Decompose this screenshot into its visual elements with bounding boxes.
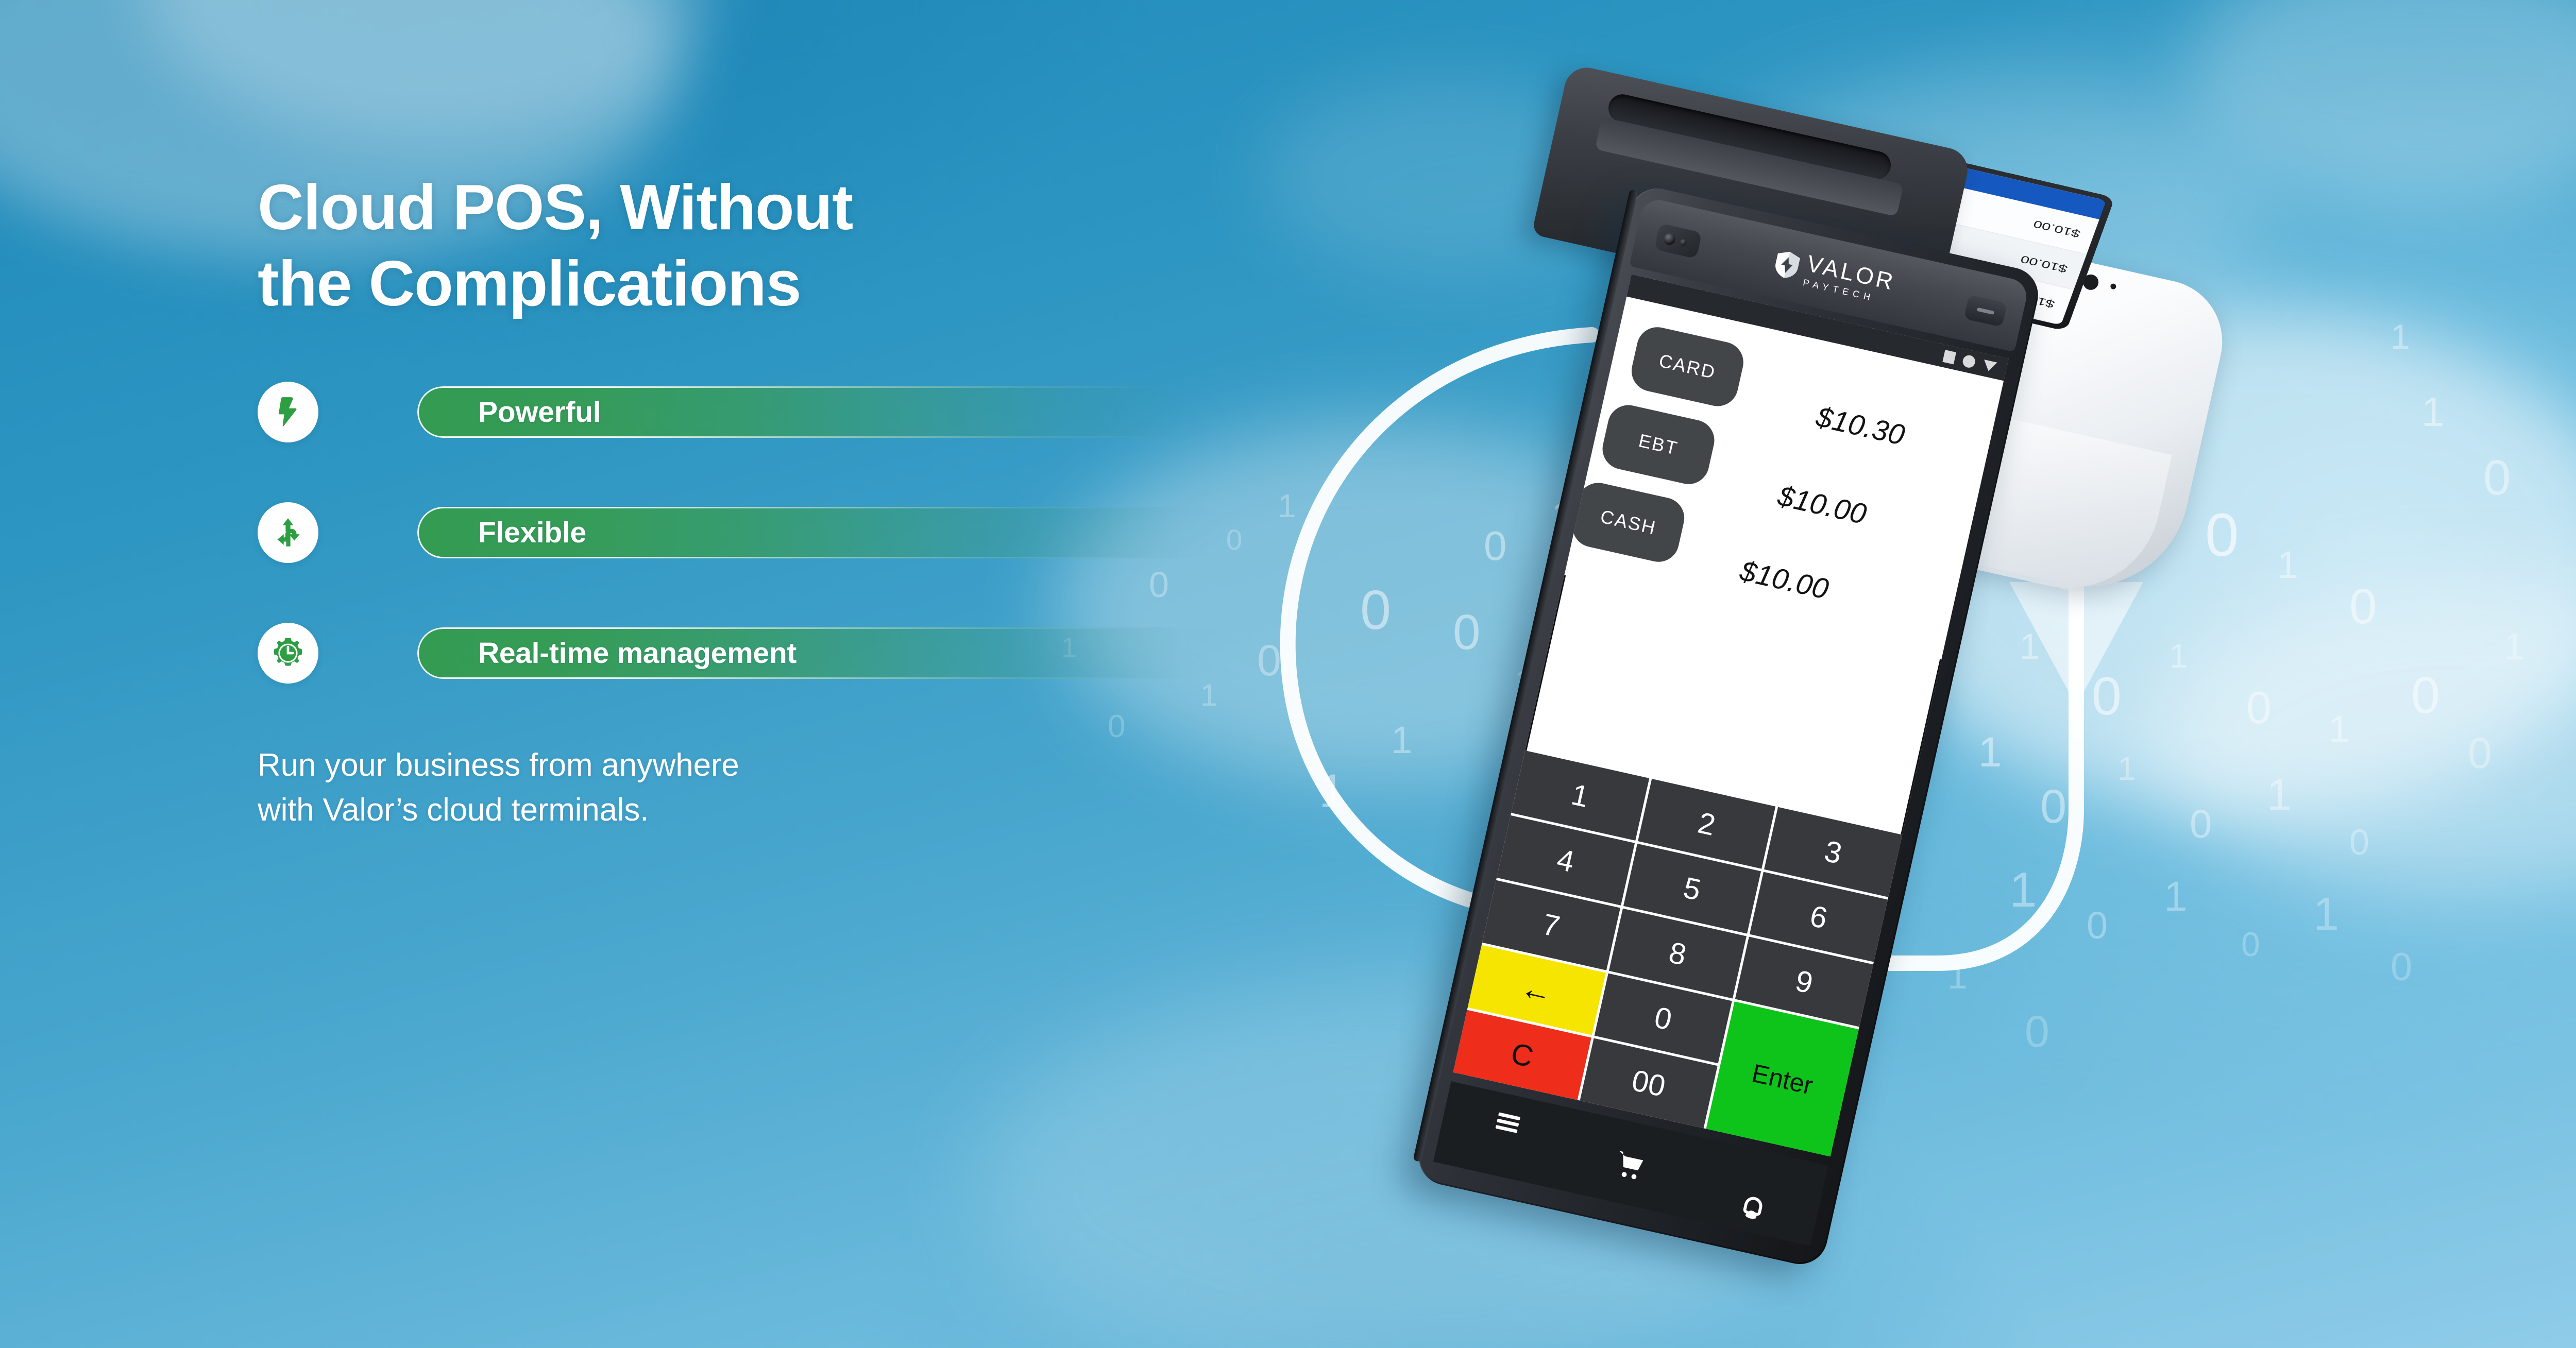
camera-module [1654, 223, 1702, 259]
feature-pill-powerful[interactable]: Powerful [417, 386, 1231, 438]
page-title: Cloud POS, Without the Complications [258, 170, 1236, 322]
customer-amount: $10.00 [2032, 217, 2082, 239]
nav-cart-button[interactable] [1611, 1147, 1649, 1185]
feature-label: Real-time management [417, 636, 796, 670]
subtext-line-2: with Valor’s cloud terminals. [258, 788, 1236, 833]
sensor-icon [1680, 238, 1688, 246]
feature-list: Powerful Flexible [258, 382, 1236, 713]
headline-line-2: the Complications [258, 246, 1236, 322]
feature-item-powerful: Powerful [258, 382, 1236, 472]
feature-item-flexible: Flexible [258, 502, 1236, 592]
hero-banner: 0110101010101010101010101010101010101010… [0, 0, 2576, 1348]
headline-line-1: Cloud POS, Without [258, 170, 1236, 246]
camera-lens-icon [1663, 232, 1676, 246]
lightning-bolt-icon [271, 395, 305, 429]
gear-clock-icon [271, 636, 305, 670]
valor-logo: VALOR PAYTECH [1771, 245, 1897, 306]
feature-pill-realtime[interactable]: Real-time management [417, 627, 1231, 679]
terminal-screen: CARD $10.30 EBT $10.00 CASH $10.00 1 2 [1453, 275, 2009, 1156]
signal-icon [1961, 354, 1976, 369]
subtext-line-1: Run your business from anywhere [258, 743, 1236, 788]
tender-button-ebt[interactable]: EBT [1599, 401, 1718, 488]
hero-subtext: Run your business from anywhere with Val… [258, 743, 1236, 833]
valor-wordmark: VALOR PAYTECH [1802, 251, 1897, 306]
shopping-cart-icon [1611, 1147, 1649, 1185]
pos-terminal: $10.30 CARD $10.00 EBT [1422, 77, 2401, 1283]
wifi-icon [1982, 360, 1997, 372]
power-button[interactable] [1964, 295, 2008, 327]
nav-support-button[interactable] [1734, 1190, 1772, 1228]
tender-amount: $10.00 [1654, 535, 1916, 624]
feature-icon-badge [258, 623, 318, 684]
support-agent-icon [1734, 1190, 1772, 1228]
tender-button-card[interactable]: CARD [1628, 323, 1747, 410]
shield-icon [1772, 248, 1802, 282]
nav-menu-button[interactable] [1489, 1103, 1527, 1141]
feature-icon-badge [258, 382, 318, 442]
feature-pill-flexible[interactable]: Flexible [417, 507, 1231, 558]
terminal-device: VALOR PAYTECH CARD $10.30 [1414, 183, 2043, 1269]
battery-icon [1942, 350, 1956, 364]
hero-content: Cloud POS, Without the Complications Pow… [258, 170, 1236, 833]
feature-label: Flexible [417, 516, 586, 550]
hamburger-menu-icon [1489, 1103, 1527, 1141]
branching-arrows-icon [271, 516, 305, 550]
feature-item-realtime: Real-time management [258, 623, 1236, 713]
feature-label: Powerful [417, 395, 601, 429]
feature-icon-badge [258, 502, 318, 563]
